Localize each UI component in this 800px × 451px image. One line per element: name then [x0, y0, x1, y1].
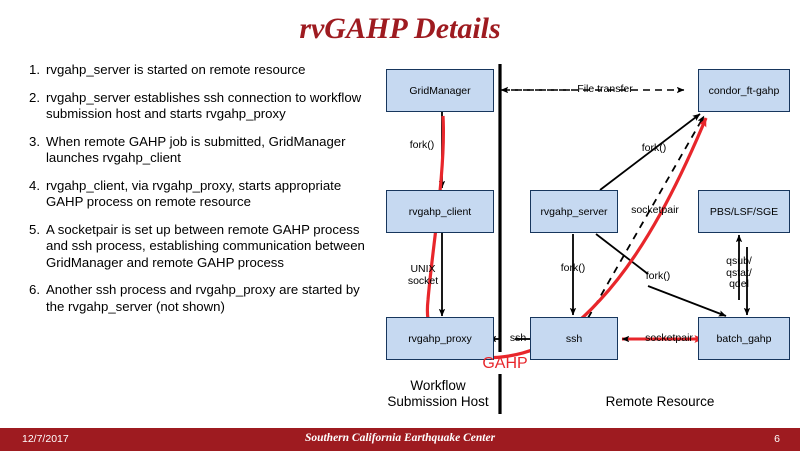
edge-label-socketpair-red: socketpair [638, 333, 700, 345]
node-gridmanager[interactable]: GridManager [386, 69, 494, 112]
edge-label-socketpair-dashed: socketpair [622, 205, 688, 217]
edge-label-qsub-qstat-qdel: qsub/ qstat/ qdel [713, 256, 765, 291]
architecture-diagram: GridManager condor_ft-gahp rvgahp_client… [0, 0, 800, 428]
caption-workflow-submission-host: Workflow Submission Host [378, 378, 498, 409]
node-rvgahp-server[interactable]: rvgahp_server [530, 190, 618, 233]
caption-remote-resource: Remote Resource [570, 394, 750, 410]
node-pbs-lsf-sge[interactable]: PBS/LSF/SGE [698, 190, 790, 233]
node-rvgahp-client[interactable]: rvgahp_client [386, 190, 494, 233]
edge-label-gahp: GAHP [470, 358, 540, 370]
slide-footer: 12/7/2017 Southern California Earthquake… [0, 428, 800, 451]
footer-page-number: 6 [774, 433, 780, 445]
node-ssh[interactable]: ssh [530, 317, 618, 360]
edge-label-file-transfer: File transfer [560, 84, 650, 96]
edge-label-unix-socket: UNIX socket [396, 264, 450, 287]
edge-label-fork-ssh-right: fork() [634, 271, 682, 283]
node-rvgahp-proxy[interactable]: rvgahp_proxy [386, 317, 494, 360]
server-diagonal-segment [596, 234, 648, 274]
edge-label-fork-server-down: fork() [549, 263, 597, 275]
slide-root: rvGAHP Details 1. rvgahp_server is start… [0, 0, 800, 451]
node-condor-ft-gahp[interactable]: condor_ft-gahp [698, 69, 790, 112]
edge-label-fork-server-top: fork() [630, 143, 678, 155]
node-batch-gahp[interactable]: batch_gahp [698, 317, 790, 360]
edge-label-ssh: ssh [503, 333, 533, 345]
edge-label-fork-left: fork() [398, 140, 446, 152]
fork-ssh-batch-arrow [648, 286, 726, 316]
footer-organization: Southern California Earthquake Center [0, 432, 800, 444]
